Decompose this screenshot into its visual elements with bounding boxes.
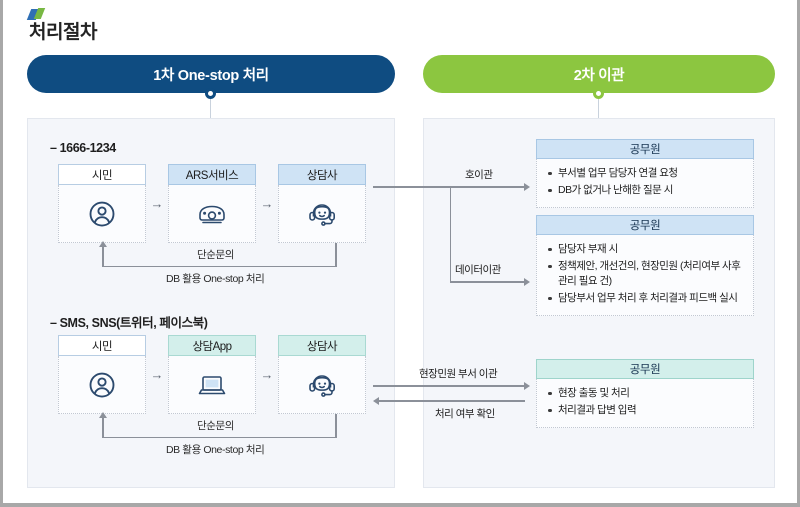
gov-box-2: 공무원 담당자 부재 시 정책제안, 개선건의, 현장민원 (처리여부 사후관리… <box>536 215 754 316</box>
list-item: 처리결과 답변 입력 <box>547 403 745 418</box>
flow-node-title: ARS서비스 <box>168 164 256 185</box>
person-icon <box>58 185 146 243</box>
gov-box-title: 공무원 <box>536 359 754 379</box>
flow-arrow-icon: → <box>146 164 168 243</box>
flow-node-title: 상담App <box>168 335 256 356</box>
return-sublabel-sns: DB 활용 One-stop 처리 <box>166 442 264 457</box>
flow-row-phone: 시민 → ARS서비스 <box>58 164 366 243</box>
diagram-canvas: 처리절차 1차 One-stop 처리 2차 이관 – 1666-1234 시민… <box>0 0 800 507</box>
page-title: 처리절차 <box>29 22 97 44</box>
gov-box-title: 공무원 <box>536 215 754 235</box>
flow-node-title: 상담사 <box>278 164 366 185</box>
group-label-phone: – 1666-1234 <box>50 141 116 155</box>
connector-node-left-icon <box>205 88 216 99</box>
gov-box-1: 공무원 부서별 업무 담당자 연결 요청 DB가 없거나 난해한 질문 시 <box>536 139 754 208</box>
flow-arrow-icon: → <box>146 335 168 414</box>
group-label-sns: – SMS, SNS(트위터, 페이스북) <box>50 312 208 331</box>
connector-label-data-transfer: 데이터이관 <box>455 262 501 277</box>
flow-node-citizen: 시민 <box>58 335 146 414</box>
flow-node-title: 시민 <box>58 335 146 356</box>
flow-node-ars: ARS서비스 <box>168 164 256 243</box>
list-item: 담당자 부재 시 <box>547 242 745 257</box>
flow-row-sns: 시민 → 상담App <box>58 335 366 414</box>
gov-box-body: 담당자 부재 시 정책제안, 개선건의, 현장민원 (처리여부 사후관리 필요 … <box>536 235 754 316</box>
flow-node-agent: 상담사 <box>278 164 366 243</box>
headset-icon <box>278 185 366 243</box>
gov-box-body: 부서별 업무 담당자 연결 요청 DB가 없거나 난해한 질문 시 <box>536 159 754 208</box>
person-icon <box>58 356 146 414</box>
flow-node-app: 상담App <box>168 335 256 414</box>
flow-node-citizen: 시민 <box>58 164 146 243</box>
list-item: 부서별 업무 담당자 연결 요청 <box>547 166 745 181</box>
headset-icon <box>278 356 366 414</box>
connector-label-call-transfer: 호이관 <box>465 167 492 182</box>
phone-icon <box>168 185 256 243</box>
page-header: 처리절차 <box>29 8 97 44</box>
flow-arrow-icon: → <box>256 164 278 243</box>
flow-node-title: 상담사 <box>278 335 366 356</box>
flow-arrow-icon: → <box>256 335 278 414</box>
list-item: DB가 없거나 난해한 질문 시 <box>547 183 745 198</box>
gov-box-title: 공무원 <box>536 139 754 159</box>
connector-label-status-check: 처리 여부 확인 <box>435 406 495 421</box>
panel-onestop: – 1666-1234 시민 → ARS서비스 <box>27 118 395 488</box>
list-item: 담당부서 업무 처리 후 처리결과 피드백 실시 <box>547 291 745 306</box>
laptop-icon <box>168 356 256 414</box>
connector-stem-left <box>210 99 211 119</box>
return-label-phone: 단순문의 <box>193 247 238 262</box>
list-item: 현장 출동 및 처리 <box>547 386 745 401</box>
return-label-sns: 단순문의 <box>193 418 238 433</box>
connector-stem-right <box>598 99 599 119</box>
flow-node-title: 시민 <box>58 164 146 185</box>
gov-box-3: 공무원 현장 출동 및 처리 처리결과 답변 입력 <box>536 359 754 428</box>
connector-node-right-icon <box>593 88 604 99</box>
gov-box-body: 현장 출동 및 처리 처리결과 답변 입력 <box>536 379 754 428</box>
brand-logo-icon <box>29 8 45 20</box>
flow-node-agent: 상담사 <box>278 335 366 414</box>
list-item: 정책제안, 개선건의, 현장민원 (처리여부 사후관리 필요 건) <box>547 259 745 289</box>
return-sublabel-phone: DB 활용 One-stop 처리 <box>166 271 264 286</box>
connector-label-field-transfer: 현장민원 부서 이관 <box>419 366 497 381</box>
